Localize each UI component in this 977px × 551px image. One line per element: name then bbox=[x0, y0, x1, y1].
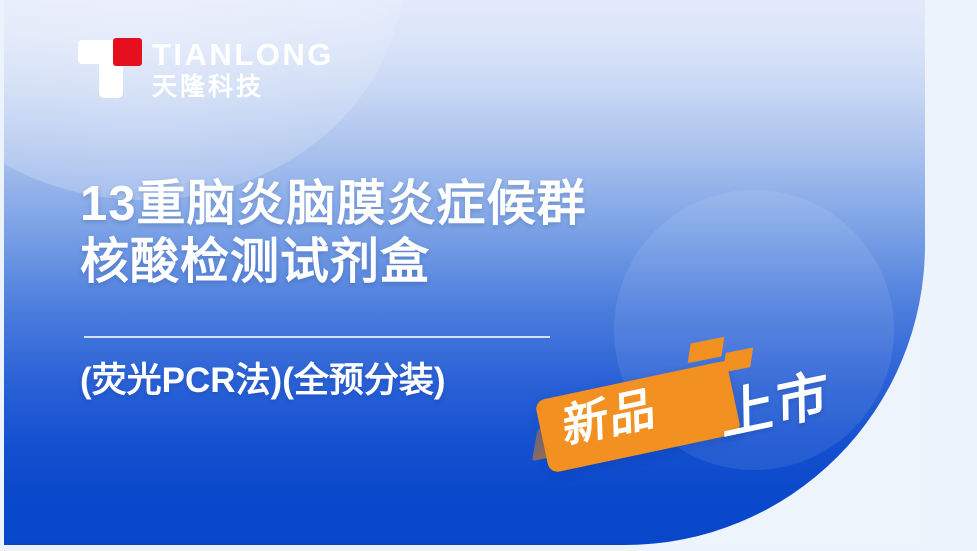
brand-name-cn: 天隆科技 bbox=[152, 73, 334, 101]
page-title: 13重脑炎脑膜炎症候群 核酸检测试剂盒 bbox=[80, 175, 587, 291]
frame-edge-left bbox=[0, 0, 4, 551]
tianlong-t-logo-icon bbox=[78, 36, 142, 102]
page-subtitle: (荧光PCR法)(全预分装) bbox=[80, 358, 446, 404]
frame-edge-bottom bbox=[0, 545, 977, 551]
product-launch-poster: TIANLONG 天隆科技 13重脑炎脑膜炎症候群 核酸检测试剂盒 (荧光PCR… bbox=[0, 0, 977, 551]
spark-block-1 bbox=[688, 337, 725, 363]
title-divider bbox=[84, 336, 550, 338]
brand-wordmark: TIANLONG 天隆科技 bbox=[152, 36, 334, 101]
headline-line-2: 核酸检测试剂盒 bbox=[80, 233, 587, 291]
poster-panel: TIANLONG 天隆科技 13重脑炎脑膜炎症候群 核酸检测试剂盒 (荧光PCR… bbox=[4, 0, 925, 545]
new-product-badge: 新品 上市 bbox=[528, 332, 858, 492]
brand-name-en: TIANLONG bbox=[152, 38, 334, 71]
logo-red-square bbox=[113, 38, 142, 66]
frame-edge-right bbox=[925, 0, 977, 551]
headline-line-1: 13重脑炎脑膜炎症候群 bbox=[80, 177, 587, 231]
brand-logo: TIANLONG 天隆科技 bbox=[78, 36, 334, 102]
